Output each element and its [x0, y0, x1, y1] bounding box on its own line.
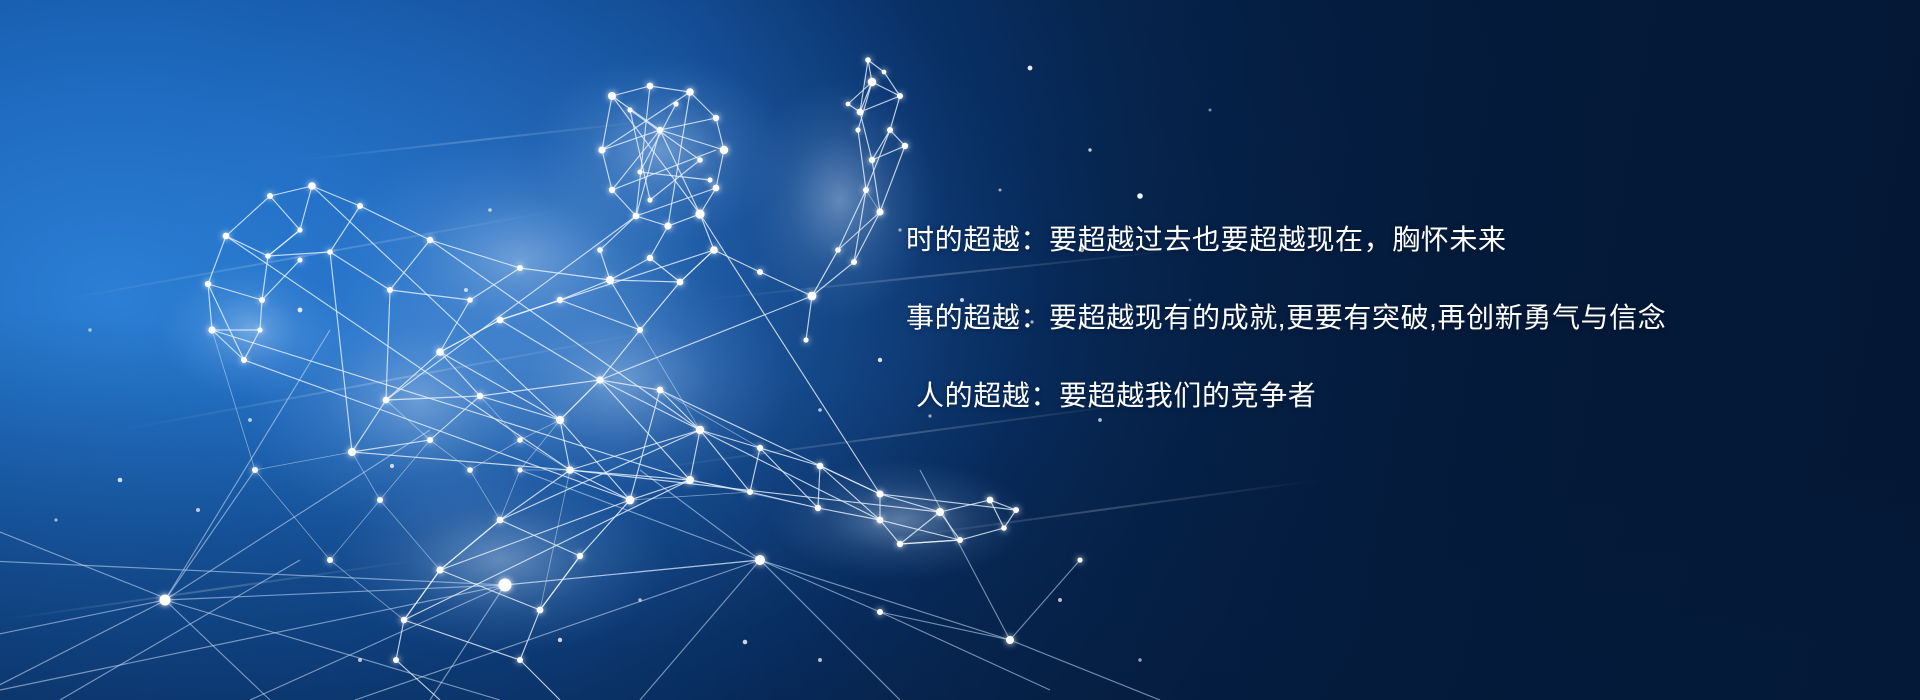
slogan-line-matter: 事的超越：要超越现有的成就,更要有突破,再创新勇气与信念: [906, 304, 1806, 332]
hero-banner: 时的超越：要超越过去也要超越现在，胸怀未来 事的超越：要超越现有的成就,更要有突…: [0, 0, 1920, 700]
slogan-line-time: 时的超越：要超越过去也要超越现在，胸怀未来: [906, 226, 1806, 254]
slogan-block: 时的超越：要超越过去也要超越现在，胸怀未来 事的超越：要超越现有的成就,更要有突…: [906, 226, 1806, 410]
slogan-line-people: 人的超越：要超越我们的竞争者: [916, 382, 1806, 410]
